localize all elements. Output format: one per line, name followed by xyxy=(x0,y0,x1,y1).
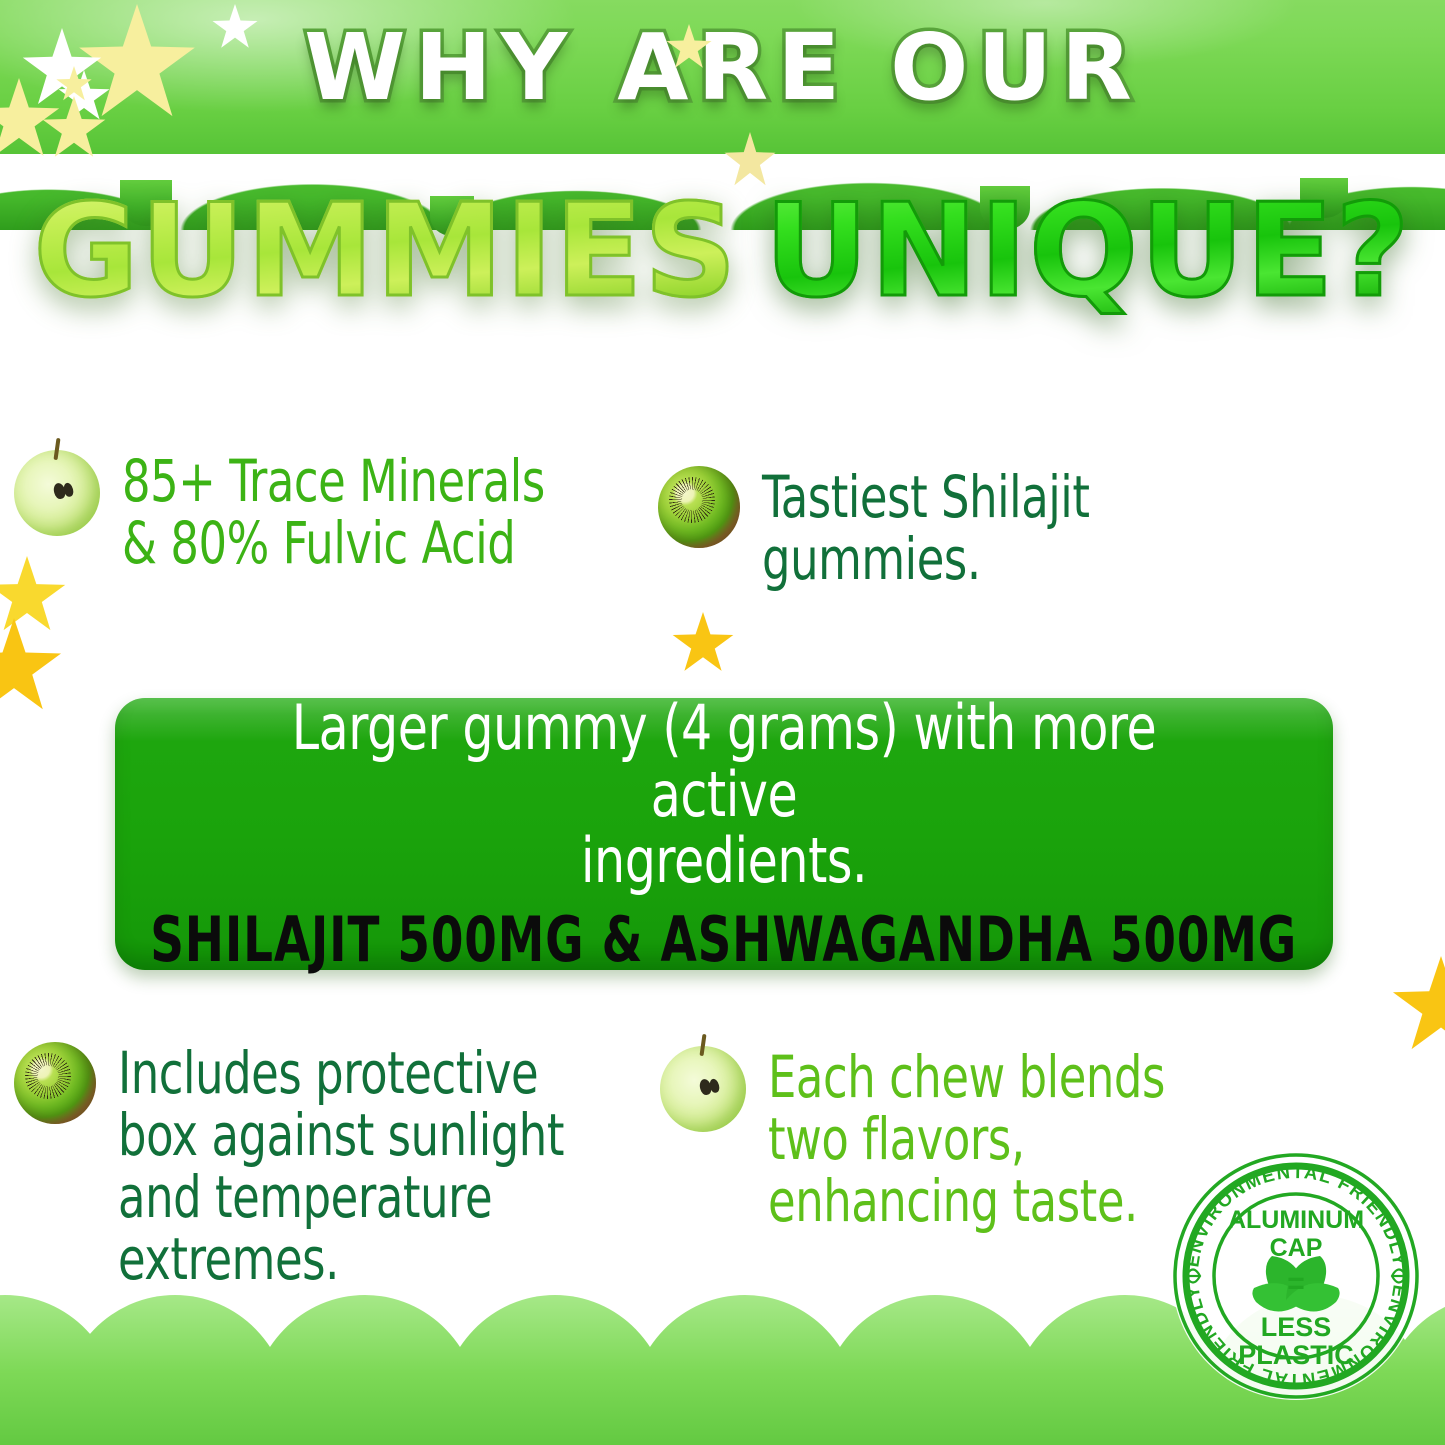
badge-line-less: LESS xyxy=(1261,1312,1332,1342)
feature-text: Includes protective box against sunlight… xyxy=(118,1042,564,1290)
badge-line-aluminum: ALUMINUM xyxy=(1228,1206,1364,1234)
headline-top-line: WHY ARE OUR xyxy=(0,14,1445,121)
star-decoration xyxy=(0,618,62,714)
badge-equals-sign: = xyxy=(1287,1267,1305,1300)
feature-text: 85+ Trace Minerals & 80% Fulvic Acid xyxy=(122,450,545,574)
banner-sub-text: SHILAJIT 500MG & ASHWAGANDHA 500MG xyxy=(151,909,1298,971)
highlight-banner: Larger gummy (4 grams) with more active … xyxy=(115,698,1333,970)
headline-word-gummies: GUMMIES xyxy=(33,177,738,326)
star-decoration xyxy=(672,612,734,674)
kiwi-half-icon xyxy=(14,1042,96,1124)
feature-protective-box: Includes protective box against sunlight… xyxy=(14,1042,654,1290)
badge-line-plastic: PLASTIC xyxy=(1238,1340,1354,1370)
kiwi-half-icon xyxy=(658,466,740,548)
star-decoration xyxy=(1392,956,1445,1054)
apple-half-icon xyxy=(660,1046,746,1132)
feature-text: Each chew blends two flavors, enhancing … xyxy=(768,1046,1165,1232)
apple-half-icon xyxy=(14,450,100,536)
eco-friendly-badge: ENVIRONMENTAL FRIENDLY ENVIRONMENTAL FRI… xyxy=(1168,1148,1424,1404)
feature-trace-minerals: 85+ Trace Minerals & 80% Fulvic Acid xyxy=(14,450,644,574)
feature-tastiest-shilajit: Tastiest Shilajit gummies. xyxy=(658,466,1298,590)
infographic-poster: WHY ARE OUR GUMMIESUNIQUE? 85+ Trace Min… xyxy=(0,0,1445,1445)
headline-word-unique: UNIQUE? xyxy=(764,177,1411,326)
feature-text: Tastiest Shilajit gummies. xyxy=(762,466,1090,590)
badge-line-cap: CAP xyxy=(1270,1234,1323,1262)
banner-main-text: Larger gummy (4 grams) with more active … xyxy=(214,695,1233,896)
headline-main-line: GUMMIESUNIQUE? xyxy=(0,188,1445,316)
